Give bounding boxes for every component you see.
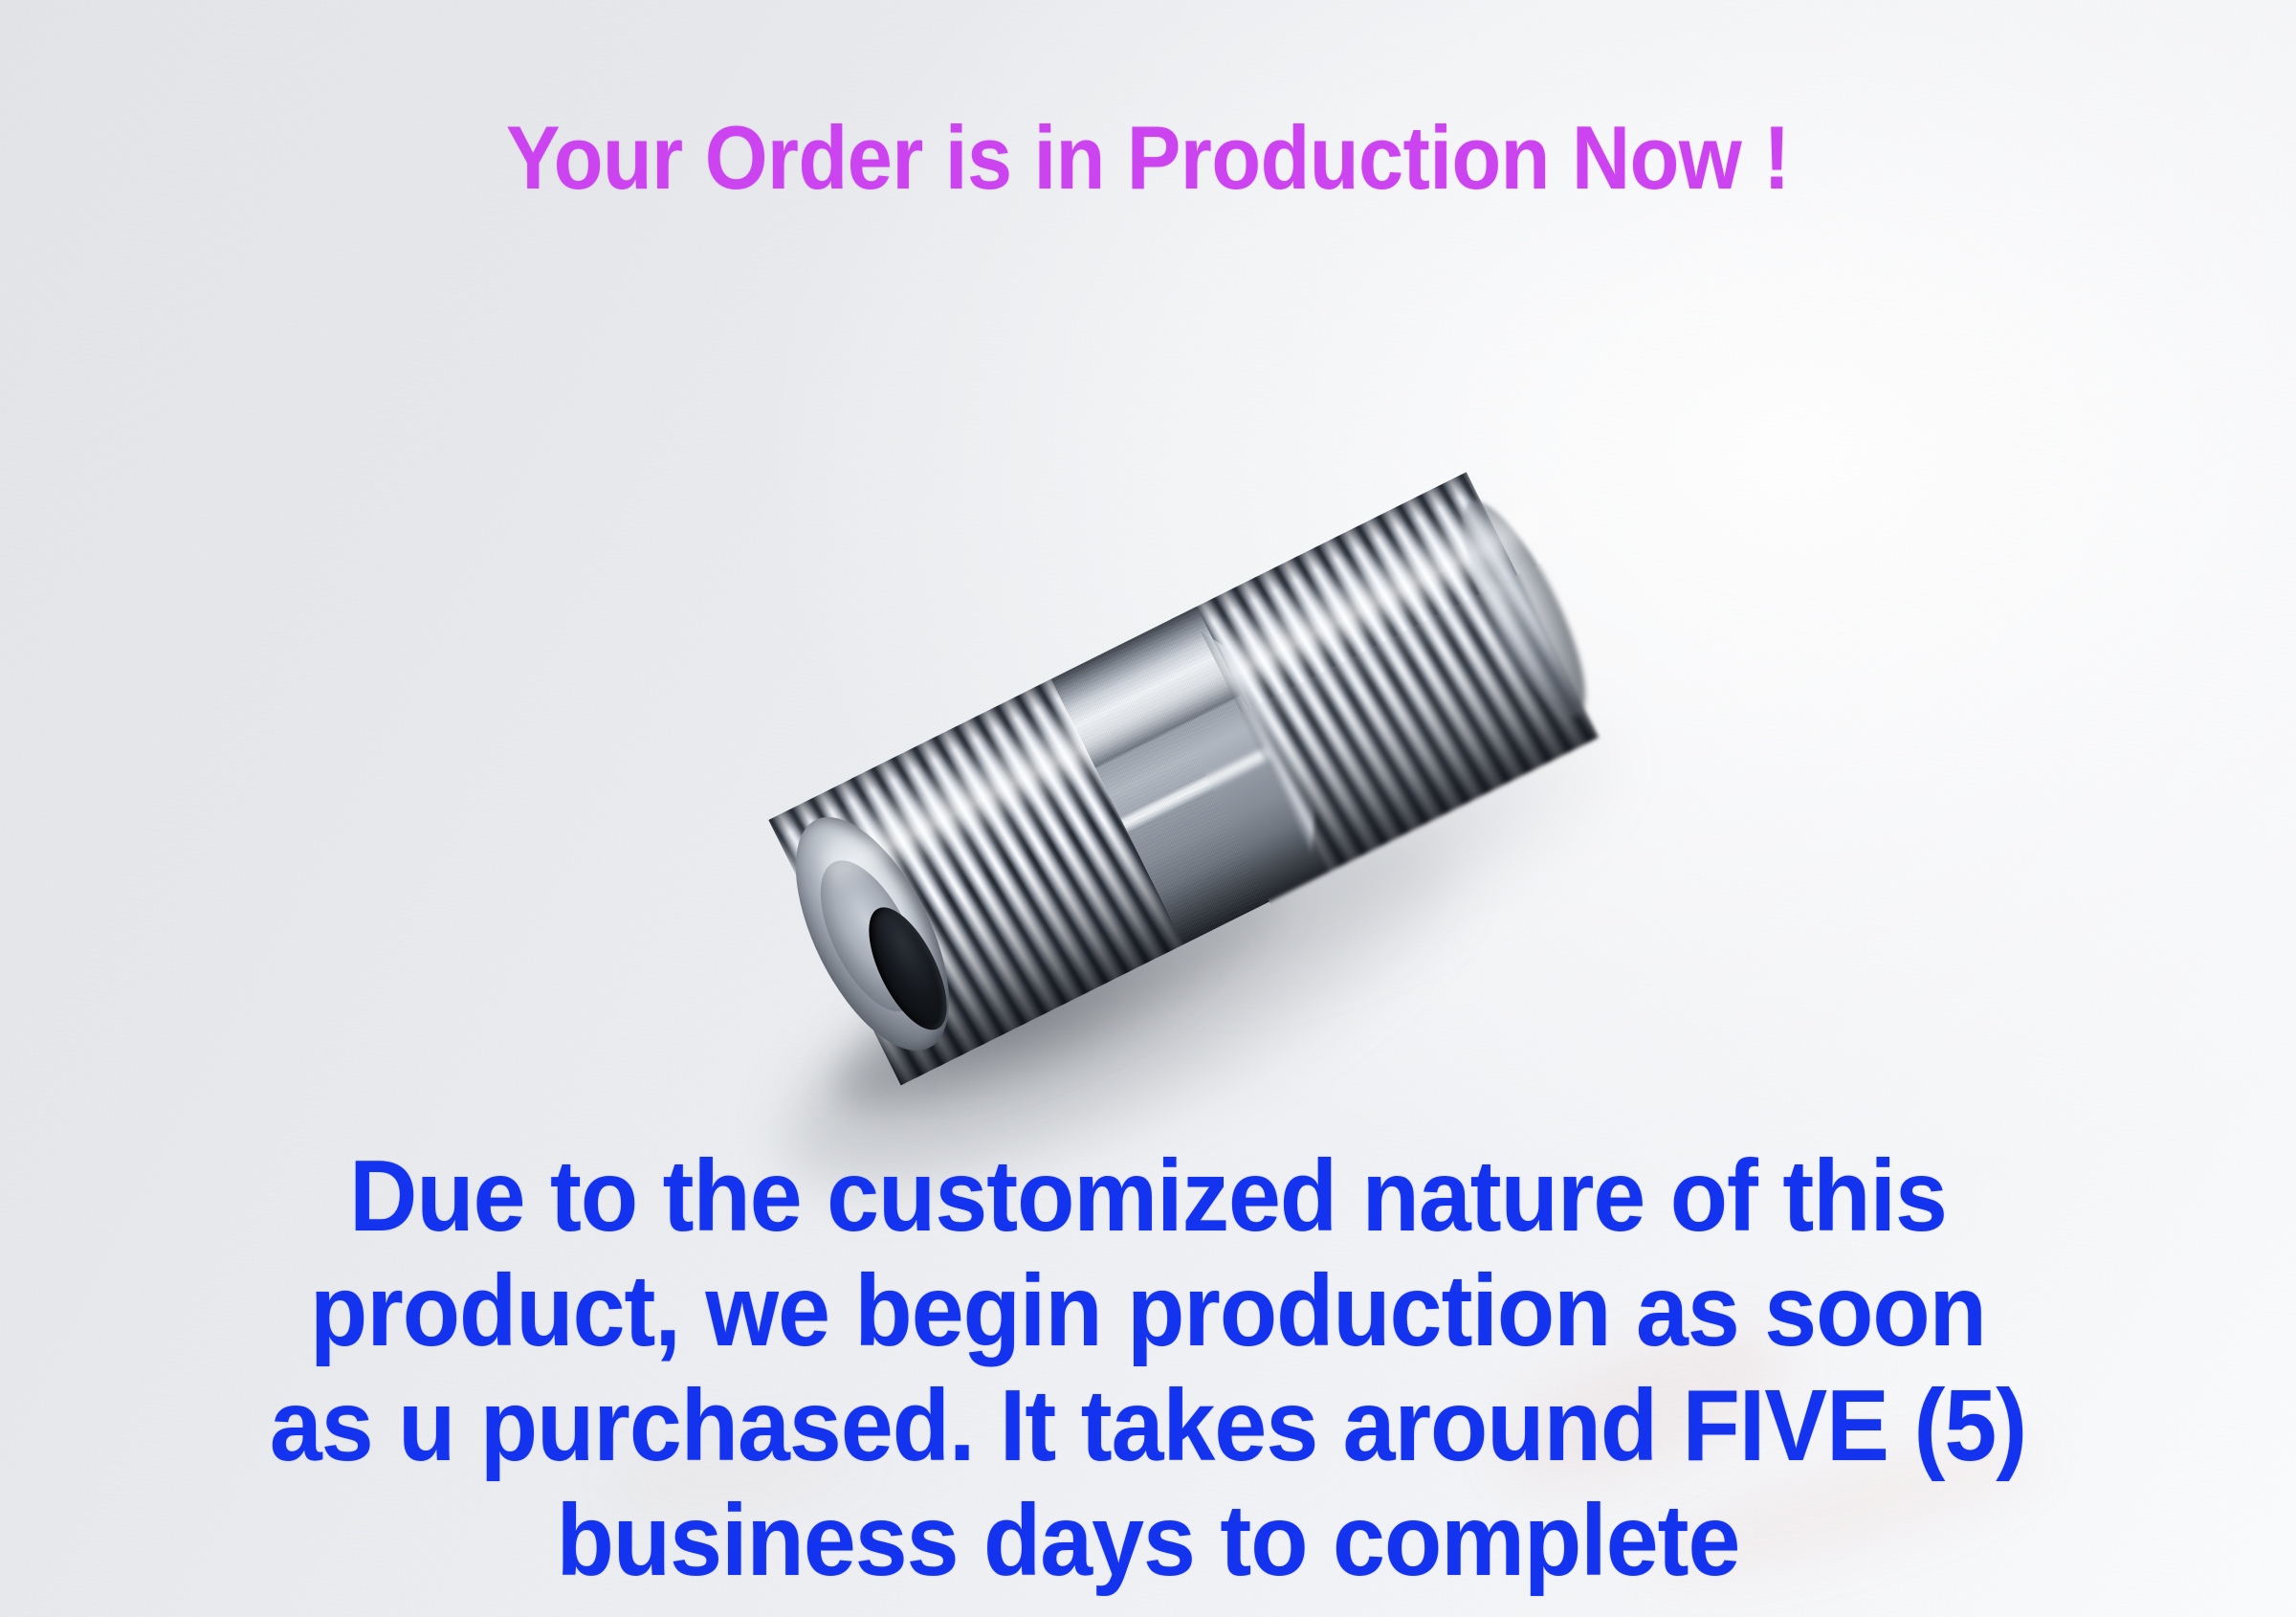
pipe-nipple-body bbox=[768, 475, 1594, 1086]
product-photo-hex-nipple bbox=[727, 478, 1626, 1186]
message-line-1: Due to the customized nature of this bbox=[80, 1139, 2216, 1253]
headline-text: Your Order is in Production Now ! bbox=[115, 113, 2181, 203]
message-line-4: business days to complete bbox=[80, 1483, 2216, 1598]
message-block: Due to the customized nature of this pro… bbox=[0, 1139, 2296, 1598]
promo-image-canvas: Your Order is in Production Now ! bbox=[0, 0, 2296, 1617]
message-line-3: as u purchased. It takes around FIVE (5) bbox=[80, 1368, 2216, 1483]
message-line-2: product, we begin production as soon bbox=[80, 1253, 2216, 1368]
